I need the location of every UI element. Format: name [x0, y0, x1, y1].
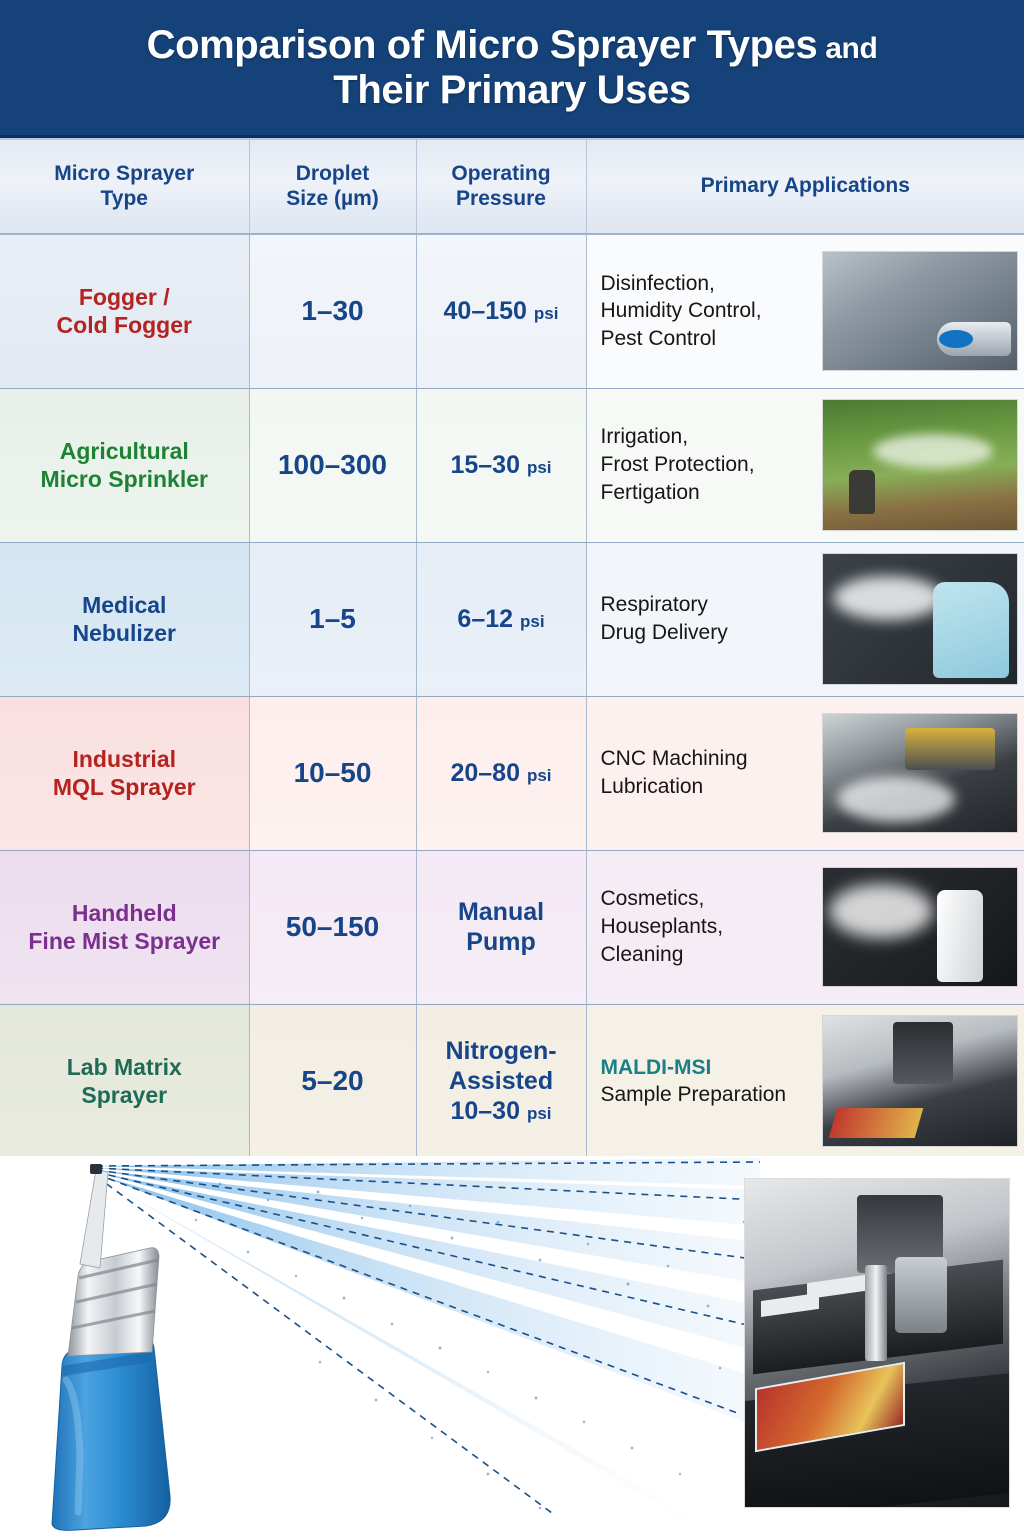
instrument-nozzle — [865, 1265, 887, 1361]
table-header: Micro Sprayer Type Droplet Size (µm) Ope… — [0, 140, 1024, 234]
title-banner: Comparison of Micro Sprayer Types and Th… — [0, 0, 1024, 138]
column-header-pressure-line2: Pressure — [456, 187, 546, 210]
application-line: Cosmetics, — [601, 887, 705, 910]
pressure-unit: psi — [527, 766, 552, 785]
sprayer-type-line2: Fine Mist Sprayer — [28, 928, 220, 954]
table-header-row: Micro Sprayer Type Droplet Size (µm) Ope… — [0, 140, 1024, 234]
page-title-line2: Their Primary Uses — [333, 68, 690, 112]
sprayer-type-line2: Micro Sprinkler — [41, 466, 208, 492]
table-row: Handheld Fine Mist Sprayer 50–150 Manual… — [0, 850, 1024, 1004]
column-header-droplet-size: Droplet Size (µm) — [249, 140, 416, 234]
column-header-applications: Primary Applications — [586, 140, 1024, 234]
pressure-line1: Nitrogen- — [445, 1037, 556, 1065]
cell-sprayer-type: Handheld Fine Mist Sprayer — [0, 850, 249, 1004]
cell-applications: Irrigation, Frost Protection, Fertigatio… — [586, 388, 1024, 542]
application-line: Disinfection, — [601, 272, 715, 295]
pressure-number: 40–150 — [444, 297, 527, 325]
cell-sprayer-type: Fogger / Cold Fogger — [0, 234, 249, 388]
sprayer-type-label: Lab Matrix Sprayer — [10, 1053, 239, 1109]
sprayer-type-label: Industrial MQL Sprayer — [10, 745, 239, 801]
page-title-main: Comparison of Micro Sprayer Types — [147, 23, 818, 67]
droplet-size-value: 100–300 — [260, 449, 406, 481]
comparison-table: Micro Sprayer Type Droplet Size (µm) Ope… — [0, 140, 1024, 1158]
sprayer-type-line2: Cold Fogger — [57, 312, 192, 338]
micro-sprinkler-field-photo — [822, 399, 1018, 531]
spray-bottle — [52, 1164, 170, 1530]
comparison-table-container: Micro Sprayer Type Droplet Size (µm) Ope… — [0, 138, 1024, 1156]
sprayer-type-line1: Medical — [82, 592, 166, 618]
pressure-value: Nitrogen- Assisted 10–30 psi — [427, 1036, 576, 1126]
bottom-illustration-area — [0, 1156, 1024, 1536]
cell-applications: Disinfection, Humidity Control, Pest Con… — [586, 234, 1024, 388]
cell-applications: MALDI-MSI Sample Preparation — [586, 1004, 1024, 1158]
droplet-size-value: 10–50 — [260, 757, 406, 789]
handheld-mist-sprayer-photo — [822, 867, 1018, 987]
page-title: Comparison of Micro Sprayer Types and Th… — [107, 23, 918, 113]
droplet-size-value: 1–5 — [260, 603, 406, 635]
cell-sprayer-type: Medical Nebulizer — [0, 542, 249, 696]
column-header-type-line2: Type — [101, 187, 148, 210]
table-body: Fogger / Cold Fogger 1–30 40–150 psi Dis… — [0, 234, 1024, 1158]
cell-droplet-size: 1–30 — [249, 234, 416, 388]
column-header-pressure: Operating Pressure — [416, 140, 586, 234]
fogger-spraying-photo — [822, 251, 1018, 371]
pressure-unit: psi — [527, 1104, 552, 1123]
pressure-unit: psi — [527, 458, 552, 477]
cell-sprayer-type: Agricultural Micro Sprinkler — [0, 388, 249, 542]
cell-droplet-size: 50–150 — [249, 850, 416, 1004]
column-header-droplet-line2: Size (µm) — [286, 187, 379, 210]
application-line: Lubrication — [601, 775, 704, 798]
sprayer-type-label: Agricultural Micro Sprinkler — [10, 437, 239, 493]
cell-applications: Cosmetics, Houseplants, Cleaning — [586, 850, 1024, 1004]
droplet-size-value: 5–20 — [260, 1065, 406, 1097]
cell-operating-pressure: 20–80 psi — [416, 696, 586, 850]
sprayer-type-line2: Sprayer — [81, 1082, 167, 1108]
pressure-number: 15–30 — [450, 451, 520, 479]
cell-operating-pressure: 6–12 psi — [416, 542, 586, 696]
lab-matrix-sprayer-instrument-photo — [744, 1178, 1010, 1508]
pressure-unit: Pump — [466, 928, 535, 956]
pressure-value: 40–150 psi — [427, 296, 576, 326]
table-row: Lab Matrix Sprayer 5–20 Nitrogen- Assist… — [0, 1004, 1024, 1158]
pressure-unit: psi — [520, 612, 545, 631]
blue-spray-bottle-fan-pattern-diagram — [0, 1156, 760, 1536]
application-line: Irrigation, — [601, 425, 689, 448]
pressure-value: Manual Pump — [427, 897, 576, 957]
table-row: Industrial MQL Sprayer 10–50 20–80 psi C… — [0, 696, 1024, 850]
pressure-value: 6–12 psi — [427, 604, 576, 634]
application-line: CNC Machining — [601, 747, 748, 770]
sprayer-type-line2: MQL Sprayer — [53, 774, 196, 800]
table-row: Fogger / Cold Fogger 1–30 40–150 psi Dis… — [0, 234, 1024, 388]
sprayer-type-line2: Nebulizer — [72, 620, 176, 646]
sprayer-type-label: Fogger / Cold Fogger — [10, 283, 239, 339]
application-line: Respiratory — [601, 593, 708, 616]
pressure-number: Manual — [458, 898, 544, 926]
pressure-line3: 10–30 — [450, 1097, 520, 1125]
application-line: Frost Protection, — [601, 453, 755, 476]
application-accent-label: MALDI-MSI — [601, 1056, 712, 1079]
sprayer-type-line1: Agricultural — [60, 438, 189, 464]
cell-operating-pressure: 40–150 psi — [416, 234, 586, 388]
cell-droplet-size: 100–300 — [249, 388, 416, 542]
application-line: Humidity Control, — [601, 299, 762, 322]
cell-sprayer-type: Industrial MQL Sprayer — [0, 696, 249, 850]
sprayer-type-label: Medical Nebulizer — [10, 591, 239, 647]
applications-text: Cosmetics, Houseplants, Cleaning — [601, 885, 724, 968]
sprayer-type-line1: Handheld — [72, 900, 177, 926]
applications-text: Respiratory Drug Delivery — [601, 591, 728, 646]
pressure-value: 15–30 psi — [427, 450, 576, 480]
pressure-number: 20–80 — [450, 759, 520, 787]
applications-text: MALDI-MSI Sample Preparation — [601, 1054, 787, 1109]
instrument-knob — [895, 1257, 947, 1333]
cell-droplet-size: 10–50 — [249, 696, 416, 850]
applications-text: CNC Machining Lubrication — [601, 745, 748, 800]
droplet-size-value: 50–150 — [260, 911, 406, 943]
sprayer-type-label: Handheld Fine Mist Sprayer — [10, 899, 239, 955]
pressure-unit: psi — [534, 304, 559, 323]
droplet-size-value: 1–30 — [260, 295, 406, 327]
spray-fan-cones — [96, 1158, 760, 1528]
application-line: Sample Preparation — [601, 1083, 787, 1106]
application-line: Drug Delivery — [601, 621, 728, 644]
application-line: Houseplants, — [601, 915, 724, 938]
cell-operating-pressure: Nitrogen- Assisted 10–30 psi — [416, 1004, 586, 1158]
applications-text: Irrigation, Frost Protection, Fertigatio… — [601, 423, 755, 506]
lab-matrix-sprayer-photo — [822, 1015, 1018, 1147]
pressure-value: 20–80 psi — [427, 758, 576, 788]
sprayer-type-line1: Industrial — [72, 746, 176, 772]
cnc-machining-lubrication-photo — [822, 713, 1018, 833]
cell-droplet-size: 1–5 — [249, 542, 416, 696]
application-line: Fertigation — [601, 481, 700, 504]
column-header-pressure-line1: Operating — [451, 162, 550, 185]
column-header-type-line1: Micro Sprayer — [54, 162, 194, 185]
cell-droplet-size: 5–20 — [249, 1004, 416, 1158]
page-title-and: and — [817, 32, 877, 65]
pressure-number: 6–12 — [457, 605, 513, 633]
table-row: Agricultural Micro Sprinkler 100–300 15–… — [0, 388, 1024, 542]
application-line: Cleaning — [601, 943, 684, 966]
bottle-nozzle-tip — [80, 1164, 108, 1268]
cell-operating-pressure: Manual Pump — [416, 850, 586, 1004]
applications-text: Disinfection, Humidity Control, Pest Con… — [601, 270, 762, 353]
cell-applications: Respiratory Drug Delivery — [586, 542, 1024, 696]
pressure-line2: Assisted — [449, 1067, 553, 1095]
column-header-droplet-line1: Droplet — [296, 162, 370, 185]
sprayer-type-line1: Fogger / — [79, 284, 170, 310]
application-line: Pest Control — [601, 327, 717, 350]
cell-sprayer-type: Lab Matrix Sprayer — [0, 1004, 249, 1158]
table-row: Medical Nebulizer 1–5 6–12 psi Respirato… — [0, 542, 1024, 696]
column-header-type: Micro Sprayer Type — [0, 140, 249, 234]
cell-applications: CNC Machining Lubrication — [586, 696, 1024, 850]
sprayer-type-line1: Lab Matrix — [67, 1054, 182, 1080]
medical-nebulizer-photo — [822, 553, 1018, 685]
cell-operating-pressure: 15–30 psi — [416, 388, 586, 542]
